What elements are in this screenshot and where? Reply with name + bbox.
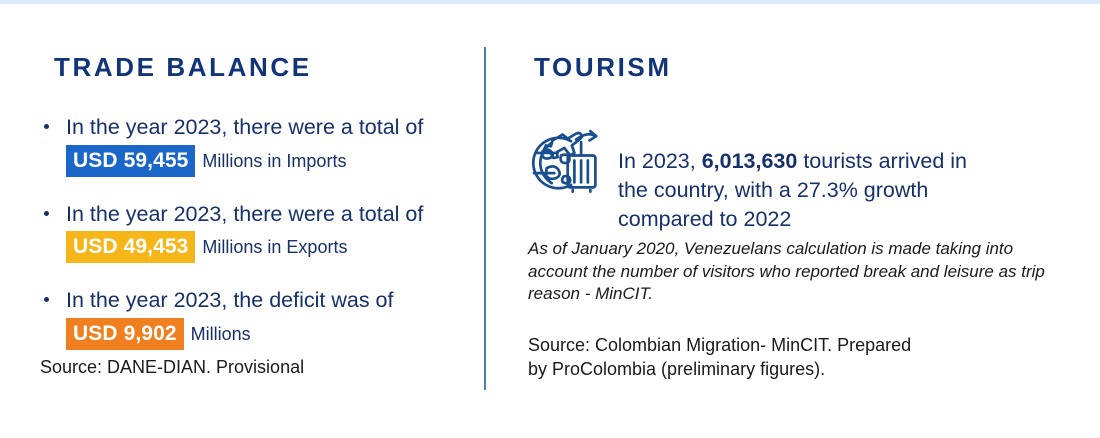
bullet-dot-icon xyxy=(44,124,49,129)
trade-balance-bullet-list: In the year 2023, there were a total of … xyxy=(40,114,460,350)
bullet-suffix-label: Millions in Imports xyxy=(202,152,346,170)
tourism-methodology-note: As of January 2020, Venezuelans calculat… xyxy=(528,238,1048,306)
infographic-page: TRADE BALANCE In the year 2023, there we… xyxy=(0,0,1100,438)
status-badge: USD 49,453 xyxy=(66,231,195,263)
bullet-text-line2: USD 49,453 Millions in Exports xyxy=(66,231,460,263)
top-accent-band xyxy=(0,0,1100,4)
globe-airplane-suitcase-icon xyxy=(524,116,608,200)
tourism-title: TOURISM xyxy=(534,54,1058,80)
tourism-column: TOURISM xyxy=(528,54,1058,234)
bullet-dot-icon xyxy=(44,211,49,216)
list-item: In the year 2023, there were a total of … xyxy=(40,114,460,177)
bullet-text-line1: In the year 2023, there were a total of xyxy=(66,114,460,142)
trade-balance-column: TRADE BALANCE In the year 2023, there we… xyxy=(40,54,460,374)
tourism-statement: In 2023, 6,013,630 tourists arrived in t… xyxy=(618,114,967,234)
bullet-dot-icon xyxy=(44,297,49,302)
bullet-suffix-label: Millions in Exports xyxy=(202,238,347,256)
bullet-text-line1: In the year 2023, there were a total of xyxy=(66,201,460,229)
tourism-source: Source: Colombian Migration- MinCIT. Pre… xyxy=(528,334,911,382)
trade-balance-source: Source: DANE-DIAN. Provisional xyxy=(40,356,304,380)
bullet-text-line2: USD 59,455 Millions in Imports xyxy=(66,145,460,177)
bullet-text-line1: In the year 2023, the deficit was of xyxy=(66,287,460,315)
trade-balance-title: TRADE BALANCE xyxy=(54,54,460,80)
status-badge: USD 59,455 xyxy=(66,145,195,177)
list-item: In the year 2023, the deficit was of USD… xyxy=(40,287,460,350)
list-item: In the year 2023, there were a total of … xyxy=(40,201,460,264)
tourism-statement-row: In 2023, 6,013,630 tourists arrived in t… xyxy=(524,114,1058,234)
column-divider xyxy=(484,47,486,390)
bullet-text-line2: USD 9,902 Millions xyxy=(66,318,460,350)
status-badge: USD 9,902 xyxy=(66,318,184,350)
tourism-arrivals-value: 6,013,630 xyxy=(702,149,798,173)
bullet-suffix-label: Millions xyxy=(191,325,251,343)
tourism-statement-part1: In 2023, xyxy=(618,149,702,173)
